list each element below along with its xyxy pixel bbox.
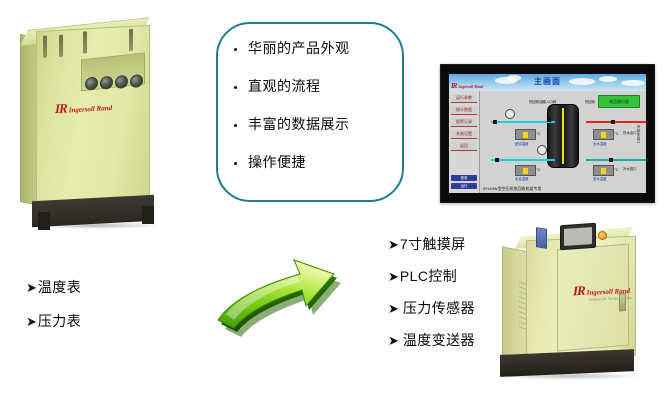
hmi-caption: IR140W型空压机热回收机组专用 <box>483 186 541 192</box>
readout-unit-bottom-left: °C <box>536 167 541 172</box>
feature-list-item: 丰富的数据展示 <box>218 116 402 132</box>
readout-top-right <box>593 129 614 140</box>
list-item-label: 温度变送器 <box>403 333 475 347</box>
feature-label: 丰富的数据展示 <box>248 116 350 132</box>
list-item-label: PLC控制 <box>400 269 457 283</box>
pipe-hot-top-right <box>586 121 646 123</box>
list-item: ➤ PLC控制 <box>388 269 508 283</box>
list-item: ➤ 7寸触摸屏 <box>388 237 508 251</box>
upgrade-arrow-icon <box>196 246 356 354</box>
old-cabinet-gauge <box>130 74 143 88</box>
left-feature-list: ➤ 温度表 ➤ 压力表 <box>26 280 166 348</box>
diagram-rotor-label: 热回收 <box>585 99 595 104</box>
list-item-label: 7寸触摸屏 <box>400 237 466 251</box>
hmi-sidebar: 运行参数 统计数据 报警记录 系统设置 返回 登录 运行 <box>449 91 480 193</box>
old-cabinet-vent <box>83 31 87 53</box>
port-label-cold-in: 冷水进口 <box>623 166 637 171</box>
readout-top-left <box>515 129 536 140</box>
hmi-touchscreen-image: IRIngersoll Rand 主画面 运行参数 统计数据 报警记录 系统设置… <box>440 64 655 203</box>
feature-list: 华丽的产品外观 直观的流程 丰富的数据展示 操作便捷 <box>218 24 402 170</box>
hmi-process-diagram: 成品输出量 热回收油路入口阀 热回收 <box>481 91 644 181</box>
readout-label-bottom-left: 出油温度 <box>515 176 529 181</box>
port-label-hot-out: 热水出口 <box>623 130 637 135</box>
ir-mark: IR <box>573 283 585 298</box>
hmi-status-button[interactable]: 成品输出量 <box>598 95 640 108</box>
hmi-screen-title: 主画面 <box>449 76 646 87</box>
valve-icon <box>611 120 615 124</box>
feature-callout-box: 华丽的产品外观 直观的流程 丰富的数据展示 操作便捷 <box>216 22 404 202</box>
list-item-label: 压力传感器 <box>403 301 475 315</box>
hmi-menu-item-2[interactable]: 报警记录 <box>451 118 477 127</box>
hmi-body: 运行参数 统计数据 报警记录 系统设置 返回 登录 运行 成品输出量 热回收油路… <box>449 91 646 193</box>
old-cabinet-foot <box>38 212 50 230</box>
pipe-cold-bottom-right <box>586 159 646 161</box>
valve-icon <box>547 118 551 122</box>
ir-wordmark: Ingersoll Rand <box>69 104 112 114</box>
hmi-menu-item-4[interactable]: 返回 <box>451 142 477 151</box>
feature-label: 操作便捷 <box>248 154 306 170</box>
hmi-right-side-text: 冷却水出口 <box>637 125 642 143</box>
right-feature-list: ➤ 7寸触摸屏 ➤ PLC控制 ➤ 压力传感器 ➤ 温度变送器 <box>388 237 508 365</box>
feature-list-item: 操作便捷 <box>218 154 402 170</box>
list-item: ➤ 温度表 <box>26 280 166 294</box>
arrow-bullet-icon: ➤ <box>26 281 37 294</box>
new-machine-image: IRIngersoll Rand Industrial Technologies <box>492 216 664 392</box>
valve-icon <box>495 158 499 162</box>
readout-bottom-left <box>515 165 536 176</box>
new-machine-door-handle[interactable] <box>619 293 626 312</box>
slide-canvas: IRIngersoll Rand 华丽的产品外观 直观的流程 丰富的数据展示 操… <box>0 0 669 401</box>
feature-label: 华丽的产品外观 <box>248 40 350 56</box>
ir-mark: IR <box>55 100 67 116</box>
old-cabinet-gauge <box>115 75 128 89</box>
list-item: ➤ 温度变送器 <box>388 333 508 347</box>
readout-bottom-right <box>593 165 614 176</box>
hmi-run-button[interactable]: 运行 <box>451 183 477 189</box>
arrow-bullet-icon: ➤ <box>388 334 399 347</box>
valve-icon <box>493 120 497 124</box>
arrow-bullet-icon: ➤ <box>388 238 399 251</box>
new-machine-front: IRIngersoll Rand Industrial Technologies <box>526 236 636 361</box>
readout-unit-top-right: °C <box>614 131 619 136</box>
new-machine-side-panel <box>536 227 547 249</box>
bullet-dot-icon <box>234 86 237 89</box>
list-item: ➤ 压力传感器 <box>388 301 508 315</box>
old-cabinet-vent <box>129 29 133 51</box>
gauge-icon <box>537 145 547 155</box>
list-item-label: 压力表 <box>38 314 81 328</box>
old-cabinet-front: IRIngersoll Rand <box>36 25 150 208</box>
readout-unit-bottom-right: °C <box>614 167 619 172</box>
bullet-dot-icon <box>234 124 237 127</box>
old-cabinet-vent <box>43 35 47 57</box>
old-cabinet-image: IRIngersoll Rand <box>14 22 174 237</box>
hmi-menu-item-0[interactable]: 运行参数 <box>451 94 477 103</box>
feature-list-item: 直观的流程 <box>218 78 402 94</box>
old-cabinet-vent <box>59 35 63 57</box>
bullet-dot-icon <box>234 48 237 51</box>
arrow-bullet-icon: ➤ <box>388 270 399 283</box>
arrow-bullet-icon: ➤ <box>388 302 399 315</box>
bullet-dot-icon <box>234 162 237 165</box>
new-machine-screen[interactable] <box>564 227 592 246</box>
pipe-cold-top-left <box>491 121 555 123</box>
feature-label: 直观的流程 <box>248 78 321 94</box>
list-item-label: 温度表 <box>38 280 81 294</box>
emergency-stop-icon[interactable] <box>598 231 607 240</box>
old-cabinet-foot <box>142 206 154 224</box>
feature-list-item: 华丽的产品外观 <box>218 40 402 56</box>
hmi-menu-item-1[interactable]: 统计数据 <box>451 106 477 115</box>
arrow-bullet-icon: ➤ <box>26 315 37 328</box>
readout-unit-top-left: °C <box>536 131 541 136</box>
hmi-header: IRIngersoll Rand 主画面 <box>449 74 646 91</box>
gauge-icon <box>505 109 515 119</box>
hmi-screen: IRIngersoll Rand 主画面 运行参数 统计数据 报警记录 系统设置… <box>449 74 646 193</box>
readout-label-bottom-right: 进水温度 <box>593 176 607 181</box>
pipe-oil-bottom-left <box>491 159 555 161</box>
hmi-menu-item-3[interactable]: 系统设置 <box>451 130 477 139</box>
valve-icon <box>609 158 613 162</box>
rotor-center-line <box>562 108 564 164</box>
list-item: ➤ 压力表 <box>26 314 166 328</box>
readout-label-top-left: 进油温度 <box>515 141 529 146</box>
new-machine-touchscreen[interactable] <box>560 223 596 251</box>
hmi-login-button[interactable]: 登录 <box>451 175 477 181</box>
ingersoll-rand-logo: IRIngersoll Rand <box>55 98 112 117</box>
readout-label-top-right: 出水温度 <box>593 141 607 146</box>
